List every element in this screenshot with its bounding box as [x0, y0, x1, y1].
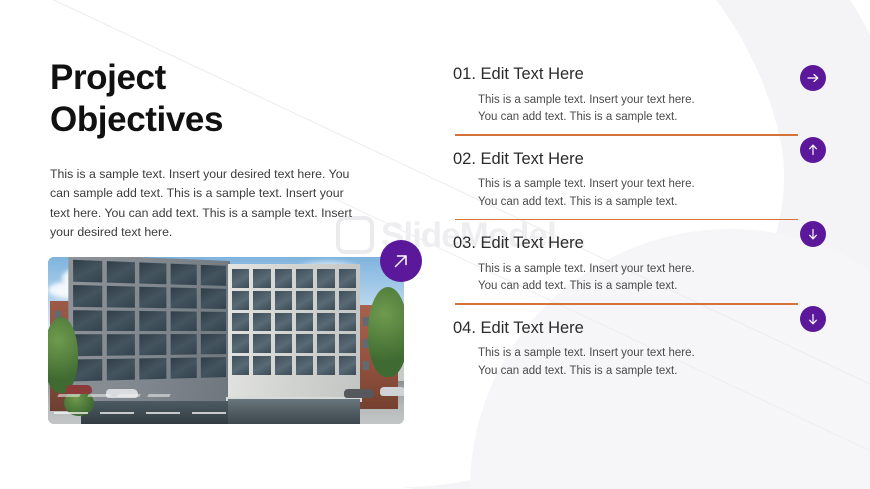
list-item[interactable]: 01. Edit Text Here This is a sample text…: [453, 64, 798, 136]
objective-heading: 02. Edit Text Here: [453, 149, 798, 170]
arrow-up-right-icon: [390, 250, 412, 272]
objective-heading: 03. Edit Text Here: [453, 233, 798, 254]
photo-road-marking: [100, 412, 134, 414]
left-content-column: Project Objectives This is a sample text…: [50, 57, 410, 140]
list-item[interactable]: 04. Edit Text Here This is a sample text…: [453, 305, 798, 390]
photo-tree: [368, 287, 404, 377]
list-item[interactable]: 03. Edit Text Here This is a sample text…: [453, 220, 798, 305]
photo-ground-floor-right: [228, 399, 360, 424]
objective-body: This is a sample text. Insert your text …: [478, 92, 798, 127]
arrow-right-icon: [806, 71, 820, 85]
slide-canvas: SlideModel.com Project Objectives This i…: [0, 0, 870, 489]
photo-road-marking: [192, 412, 226, 414]
photo-road-marking: [146, 412, 180, 414]
objective-body: This is a sample text. Insert your text …: [478, 345, 798, 380]
photo-crosswalk-stripe: [147, 394, 170, 397]
objective-icon-button[interactable]: [800, 65, 826, 91]
objective-heading: 04. Edit Text Here: [453, 318, 798, 339]
building-photo: [48, 257, 404, 424]
objective-icon-button[interactable]: [800, 306, 826, 332]
intro-paragraph: This is a sample text. Insert your desir…: [50, 165, 352, 242]
photo-crosswalk-stripe: [57, 394, 80, 397]
arrow-up-icon: [806, 143, 820, 157]
objective-icon-button[interactable]: [800, 137, 826, 163]
list-item[interactable]: 02. Edit Text Here This is a sample text…: [453, 136, 798, 221]
photo-crosswalk-stripe: [87, 394, 110, 397]
objectives-list: 01. Edit Text Here This is a sample text…: [453, 64, 798, 389]
objective-body: This is a sample text. Insert your text …: [478, 261, 798, 296]
photo-crosswalk-stripe: [117, 394, 140, 397]
page-title: Project Objectives: [50, 57, 410, 140]
photo-car: [380, 387, 404, 396]
arrow-down-icon: [806, 312, 820, 326]
building-photo-image: [48, 257, 404, 424]
objective-icon-button[interactable]: [800, 221, 826, 247]
photo-tree: [48, 317, 78, 393]
photo-road-marking: [54, 412, 88, 414]
objective-body: This is a sample text. Insert your text …: [478, 176, 798, 211]
photo-car: [344, 389, 374, 398]
photo-main-building-left-facade: [68, 257, 230, 408]
photo-car: [66, 385, 92, 394]
photo-main-building-right-facade: [228, 264, 360, 399]
objective-heading: 01. Edit Text Here: [453, 64, 798, 85]
arrow-down-icon: [806, 227, 820, 241]
photo-badge-button[interactable]: [380, 240, 422, 282]
